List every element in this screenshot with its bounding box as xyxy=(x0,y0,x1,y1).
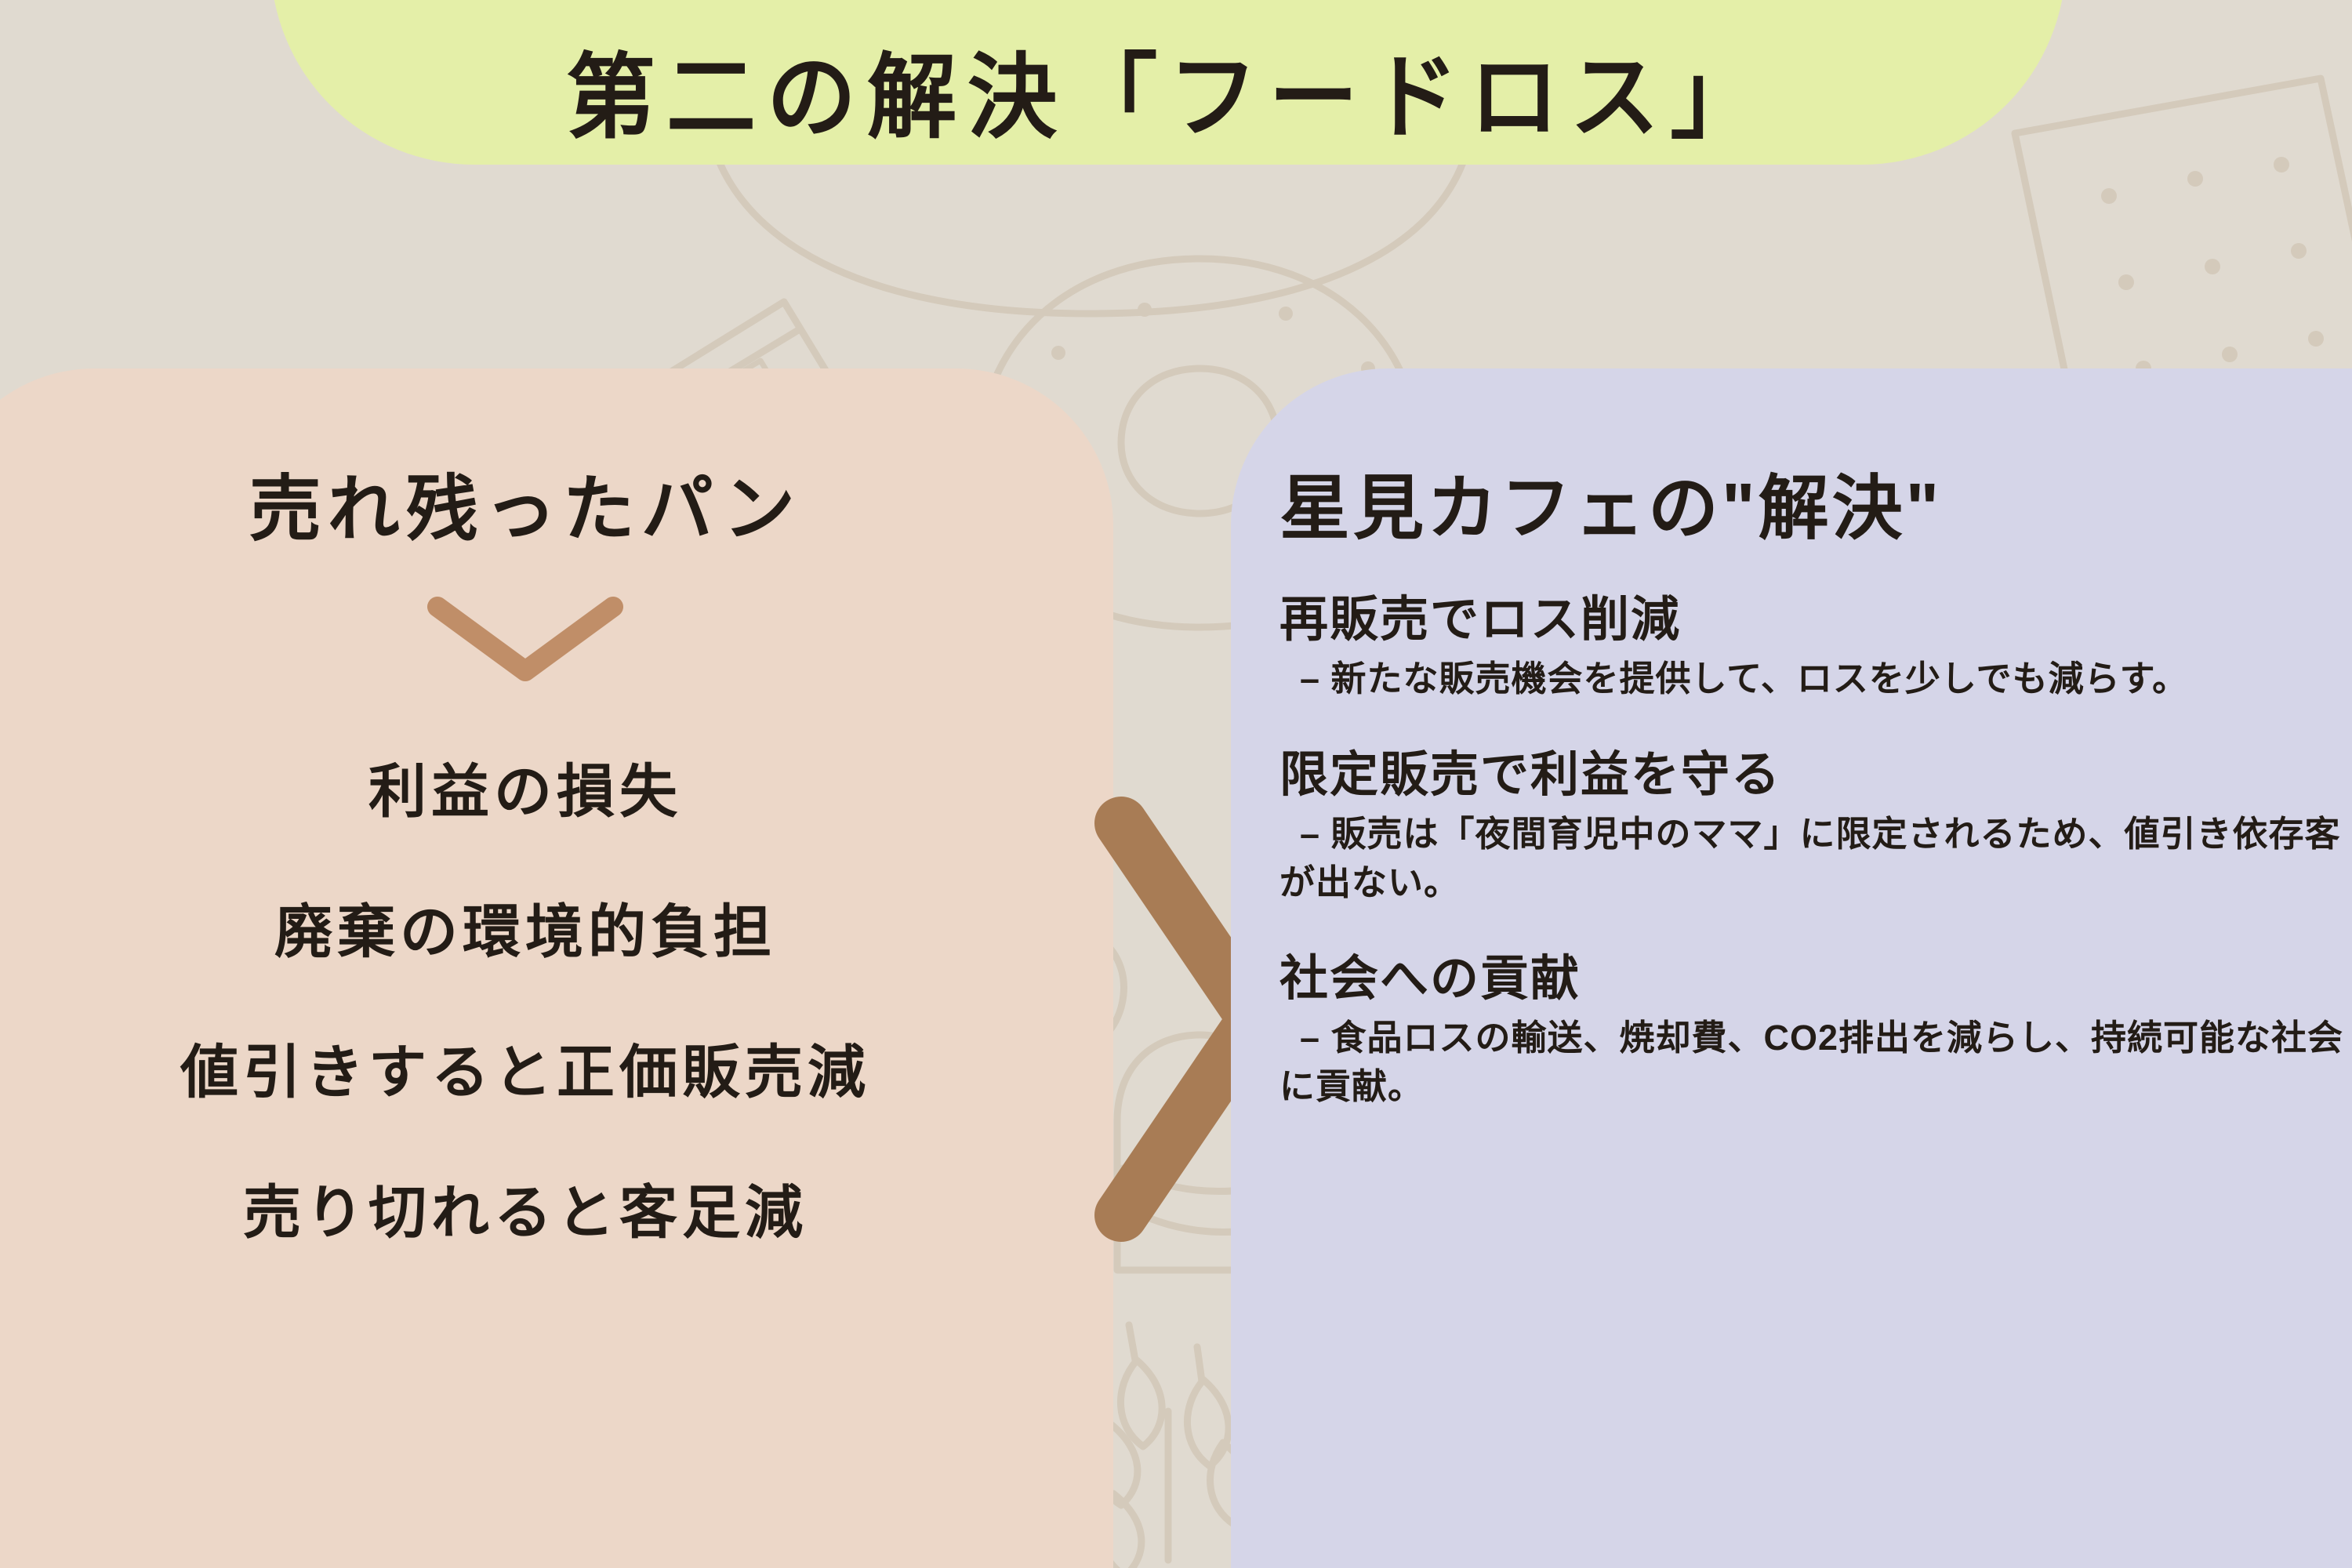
list-item: 廃棄の環境的負担 xyxy=(0,885,1058,969)
solution-heading: 星見カフェの"解決" xyxy=(1279,451,2352,553)
chevron-down-icon xyxy=(0,593,1058,687)
wheat-icon xyxy=(1097,1325,1251,1568)
solution-section-title: 再販売でロス削減 xyxy=(1279,579,2352,650)
solution-section-body: – 販売は「夜間育児中のママ」に限定されるため、値引き依存客が出ない。 xyxy=(1279,810,2352,907)
solution-section: 限定販売で利益を守る – 販売は「夜間育児中のママ」に限定されるため、値引き依存… xyxy=(1279,735,2352,907)
page-title: 第二の解決「フードロス」 xyxy=(566,50,1770,147)
list-item: 売り切れると客足減 xyxy=(0,1166,1058,1250)
list-item: 利益の損失 xyxy=(0,745,1058,829)
list-item: 値引きすると正価販売減 xyxy=(0,1025,1058,1109)
title-banner: 第二の解決「フードロス」 xyxy=(270,0,2066,165)
solution-section: 社会への貢献 – 食品ロスの輸送、焼却費、CO2排出を減らし、持続可能な社会に貢… xyxy=(1279,938,2352,1111)
problem-list: 利益の損失 廃棄の環境的負担 値引きすると正価販売減 売り切れると客足減 xyxy=(0,745,1058,1250)
slide-canvas: 第二の解決「フードロス」 売れ残ったパン 利益の損失 廃棄の環境的負担 値引きす… xyxy=(0,0,2352,1568)
solution-section-title: 社会への貢献 xyxy=(1279,938,2352,1009)
solution-section-body: – 新たな販売機会を提供して、ロスを少しでも減らす。 xyxy=(1279,655,2352,703)
solution-section: 再販売でロス削減 – 新たな販売機会を提供して、ロスを少しでも減らす。 xyxy=(1279,579,2352,703)
solution-section-body: – 食品ロスの輸送、焼却費、CO2排出を減らし、持続可能な社会に貢献。 xyxy=(1279,1014,2352,1111)
solution-section-title: 限定販売で利益を守る xyxy=(1279,735,2352,805)
solution-panel: 星見カフェの"解決" 再販売でロス削減 – 新たな販売機会を提供して、ロスを少し… xyxy=(1231,368,2352,1568)
problem-panel: 売れ残ったパン 利益の損失 廃棄の環境的負担 値引きすると正価販売減 売り切れる… xyxy=(0,368,1113,1568)
problem-heading: 売れ残ったパン xyxy=(0,451,1058,555)
